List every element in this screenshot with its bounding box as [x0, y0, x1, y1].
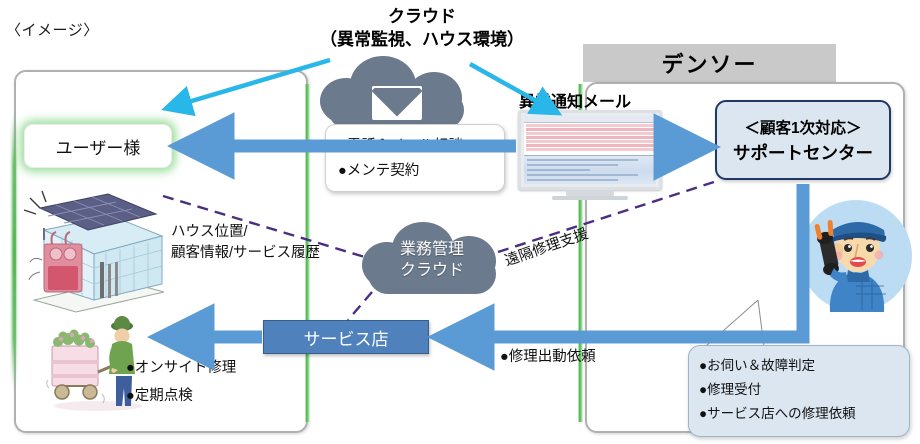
- list-item: ●定期点検: [126, 383, 236, 411]
- image-tag-label: 〈イメージ〉: [6, 19, 99, 40]
- support-center-line2: サポートセンター: [733, 140, 873, 165]
- table-row: [526, 124, 654, 127]
- denso-label: デンソー: [661, 47, 757, 79]
- list-item: ●お伺い＆故障判定: [699, 354, 909, 378]
- greenhouse-solar-illustration: [16, 188, 168, 316]
- support-center-line1: ＜顧客1次対応＞: [744, 116, 861, 138]
- list-item: ●メンテ契約: [338, 159, 504, 184]
- list-item: ●修理受付: [699, 378, 909, 402]
- monitor-icon: [518, 110, 662, 190]
- operator-phone-illustration: [800, 200, 912, 312]
- onsite-service-list: ●オンサイト修理 ●定期点検: [126, 355, 236, 410]
- house-info-line1: ハウス位置/: [171, 222, 320, 243]
- callout-tail: [706, 300, 766, 348]
- envelope-icon: [372, 86, 422, 120]
- business-cloud-icon: 業務管理 クラウド: [362, 222, 502, 296]
- house-info-label: ハウス位置/ 顧客情報/サービス履歴: [171, 222, 320, 264]
- table-row: [526, 132, 654, 135]
- table-row: [526, 128, 654, 131]
- list-item: ●サービス店への修理依頼: [699, 402, 909, 426]
- cloud-title-line1: クラウド: [272, 6, 572, 29]
- table-row: [526, 140, 654, 143]
- list-item: ●オンサイト修理: [126, 355, 236, 383]
- business-cloud-line2: クラウド: [376, 261, 488, 282]
- operator-callout: ●お伺い＆故障判定 ●修理受付 ●サービス店への修理依頼: [688, 345, 910, 437]
- repair-dispatch-label: ●修理出動依頼: [500, 345, 596, 366]
- monitoring-cloud-icon: [320, 56, 472, 128]
- table-row: [526, 148, 654, 151]
- mail-preview-pane: [524, 155, 656, 184]
- cloud-title: クラウド （異常監視、ハウス環境）: [272, 6, 572, 52]
- monitor-screen: [524, 116, 656, 184]
- consult-callout: ●電話＆メール相談 ●メンテ契約: [325, 124, 505, 192]
- monitor-foot: [552, 196, 628, 200]
- cloud-title-line2: （異常監視、ハウス環境）: [272, 29, 572, 52]
- house-info-line2: 顧客情報/サービス履歴: [171, 243, 320, 264]
- mail-toolbar: [524, 116, 656, 123]
- business-cloud-line1: 業務管理: [376, 240, 488, 261]
- table-row: [526, 136, 654, 139]
- service-shop-label: サービス店: [304, 325, 389, 350]
- mail-notification-title: 異常通知メール: [519, 88, 631, 112]
- mail-row-list: [524, 123, 656, 153]
- user-chip: ユーザー様: [24, 124, 172, 168]
- business-cloud-label: 業務管理 クラウド: [376, 240, 488, 282]
- service-shop-box: サービス店: [263, 320, 429, 354]
- list-item: ●電話＆メール相談: [338, 134, 504, 159]
- support-center-box: ＜顧客1次対応＞ サポートセンター: [715, 100, 891, 180]
- table-row: [526, 144, 654, 147]
- dashed-biz-cloud-to-shop: [348, 292, 372, 320]
- denso-header-band: デンソー: [583, 44, 836, 82]
- diagram-canvas: 〈イメージ〉 デンソー クラウド （異常監視、ハウス環境） ユーザー様: [0, 0, 920, 444]
- user-chip-label: ユーザー様: [56, 134, 141, 159]
